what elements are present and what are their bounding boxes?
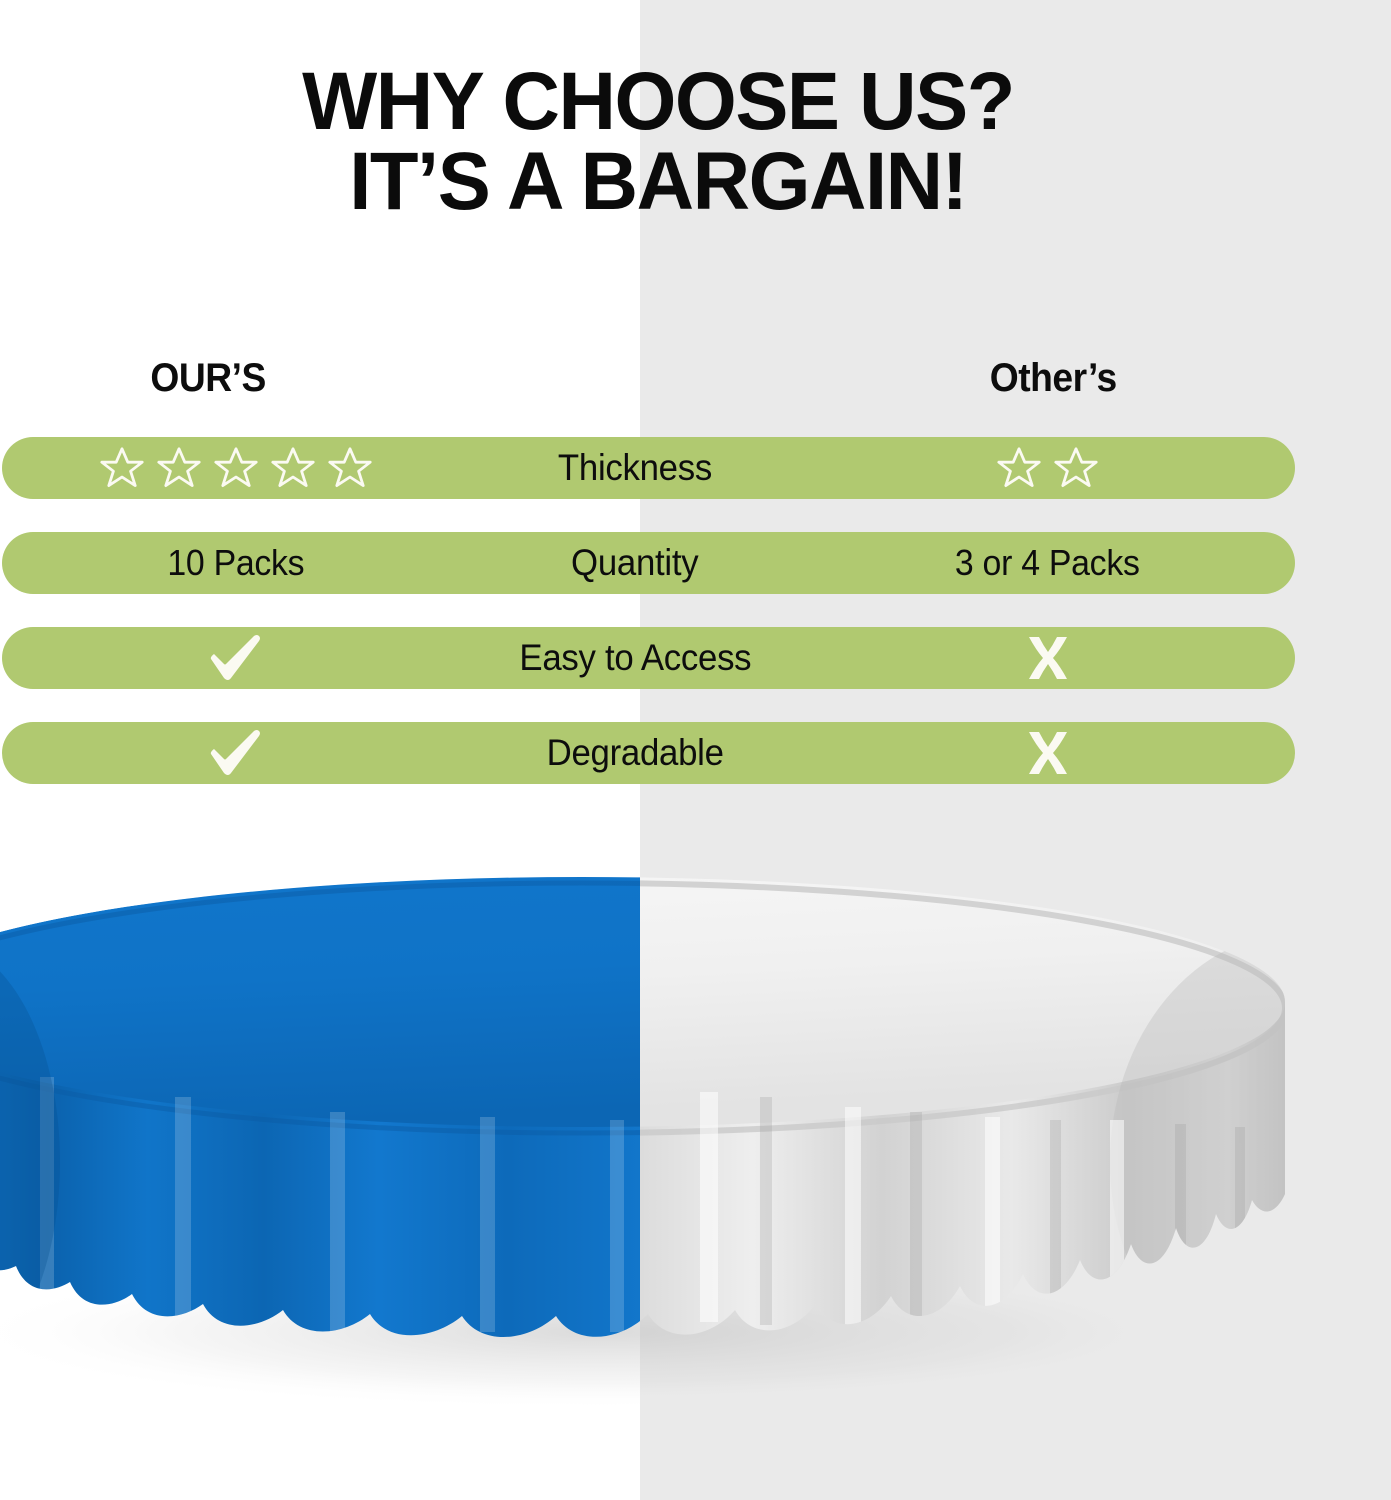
row-2-ours-cell: 10 Packs [2,532,470,594]
row-2-ours-value: 10 Packs [168,545,305,581]
row-2-others-value: 3 or 4 Packs [955,545,1140,581]
row-3-feature-cell: Easy to Access [470,627,800,689]
star-outline-icon [154,444,204,492]
row-2-others-cell: 3 or 4 Packs [800,532,1295,594]
star-outline-icon [325,444,375,492]
cross-icon [1023,728,1073,778]
row-3-ours-cell [2,627,470,689]
tablecloth-illustration [0,862,1391,1500]
row-1-others-cell [800,437,1295,499]
comparison-row: 10 Packs Quantity 3 or 4 Packs [2,532,1295,594]
star-outline-icon [211,444,261,492]
star-outline-icon [1051,444,1101,492]
row-4-ours-cell [2,722,470,784]
feature-label: Easy to Access [519,640,751,676]
star-outline-icon [97,444,147,492]
row-1-others-star-rating [994,444,1101,492]
comparison-row: Thickness [2,437,1295,499]
comparison-row: Easy to Access [2,627,1295,689]
row-3-others-cell [800,627,1295,689]
row-4-others-cell [800,722,1295,784]
infographic-canvas: WHY CHOOSE US? IT’S A BARGAIN! OUR’S Oth… [0,0,1391,1500]
row-1-feature-cell: Thickness [470,437,800,499]
star-outline-icon [268,444,318,492]
star-outline-icon [994,444,1044,492]
row-4-feature-cell: Degradable [470,722,800,784]
column-header-others: Other’s [990,358,1117,398]
row-1-ours-cell [2,437,470,499]
comparison-row: Degradable [2,722,1295,784]
feature-label: Degradable [546,735,723,771]
checkmark-icon [207,633,265,683]
product-image-tablecloth [0,862,1391,1500]
headline-line-1: WHY CHOOSE US? [20,62,1297,142]
row-2-feature-cell: Quantity [470,532,800,594]
column-header-ours: OUR’S [150,358,265,398]
comparison-table: Thickness 10 Packs Quantity 3 or 4 Packs [0,437,1391,784]
cross-icon [1023,633,1073,683]
feature-label: Quantity [571,545,698,581]
feature-label: Thickness [558,450,712,486]
headline-line-2: IT’S A BARGAIN! [20,142,1297,222]
checkmark-icon [207,728,265,778]
row-1-ours-star-rating [97,444,375,492]
headline-block: WHY CHOOSE US? IT’S A BARGAIN! [0,62,1391,222]
